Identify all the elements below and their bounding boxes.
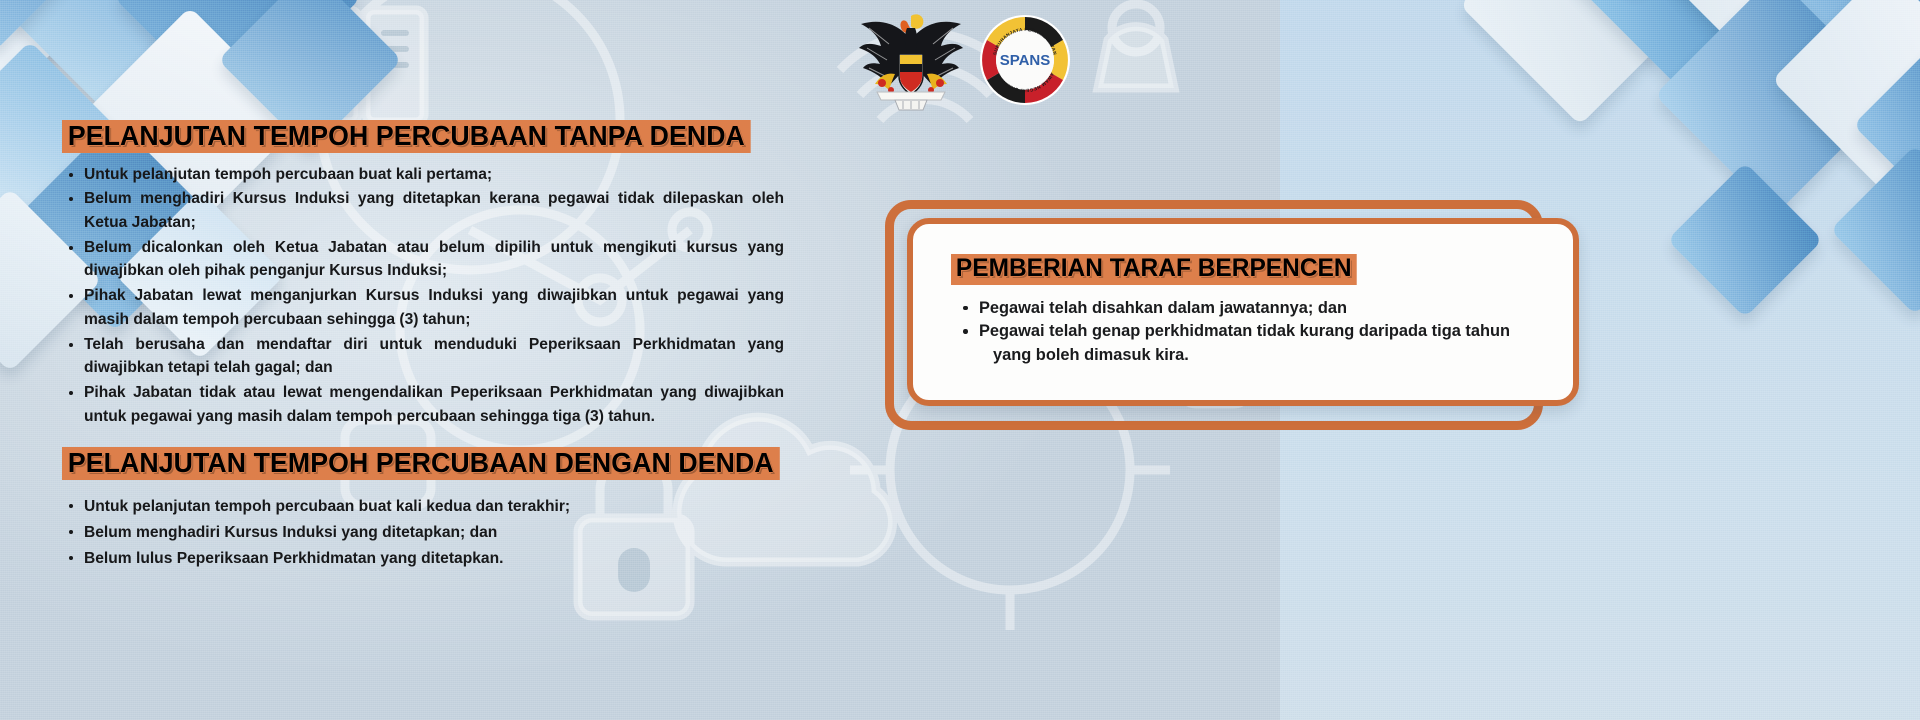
list-item: Pegawai telah disahkan dalam jawatannya;… [959, 297, 1533, 321]
list-item: Pihak Jabatan lewat menganjurkan Kursus … [62, 284, 784, 331]
section-title-dengan-denda: PELANJUTAN TEMPOH PERCUBAAN DENGAN DENDA [62, 447, 779, 480]
left-content-column: PELANJUTAN TEMPOH PERCUBAAN TANPA DENDA … [62, 120, 784, 573]
list-item: Belum dicalonkan oleh Ketua Jabatan atau… [62, 236, 784, 283]
bullet-list-tanpa-denda: Untuk pelanjutan tempoh percubaan buat k… [62, 163, 784, 429]
list-item: Belum menghadiri Kursus Induksi yang dit… [62, 187, 784, 234]
list-item: Belum lulus Peperiksaan Perkhidmatan yan… [62, 546, 784, 571]
list-item-continuation: yang boleh dimasuk kira. [979, 344, 1533, 368]
card-bullet-list: Pegawai telah disahkan dalam jawatannya;… [913, 297, 1573, 369]
pemberian-taraf-berpencen-card-group: PEMBERIAN TARAF BERPENCEN Pegawai telah … [885, 200, 1545, 422]
bullet-list-dengan-denda: Untuk pelanjutan tempoh percubaan buat k… [62, 494, 784, 572]
spans-logo: SURUHANJAYA PERKHIDMATAN AWAM NEGERI SAR… [979, 14, 1071, 106]
list-item-text: Pegawai telah genap perkhidmatan tidak k… [979, 322, 1510, 340]
list-item: Pihak Jabatan tidak atau lewat mengendal… [62, 381, 784, 428]
infographic-canvas: SURUHANJAYA PERKHIDMATAN AWAM NEGERI SAR… [0, 0, 1920, 720]
card-panel: PEMBERIAN TARAF BERPENCEN Pegawai telah … [907, 218, 1579, 406]
list-item: Telah berusaha dan mendaftar diri untuk … [62, 333, 784, 380]
list-item: Untuk pelanjutan tempoh percubaan buat k… [62, 494, 784, 519]
card-title: PEMBERIAN TARAF BERPENCEN [951, 254, 1356, 285]
list-item: Pegawai telah genap perkhidmatan tidak k… [959, 320, 1533, 368]
sarawak-state-crest [855, 4, 967, 112]
section-title-tanpa-denda: PELANJUTAN TEMPOH PERCUBAAN TANPA DENDA [62, 120, 751, 153]
list-item: Untuk pelanjutan tempoh percubaan buat k… [62, 163, 784, 187]
logo-group: SURUHANJAYA PERKHIDMATAN AWAM NEGERI SAR… [855, 4, 1085, 112]
list-item: Belum menghadiri Kursus Induksi yang dit… [62, 520, 784, 545]
spans-acronym: SPANS [1000, 52, 1051, 69]
